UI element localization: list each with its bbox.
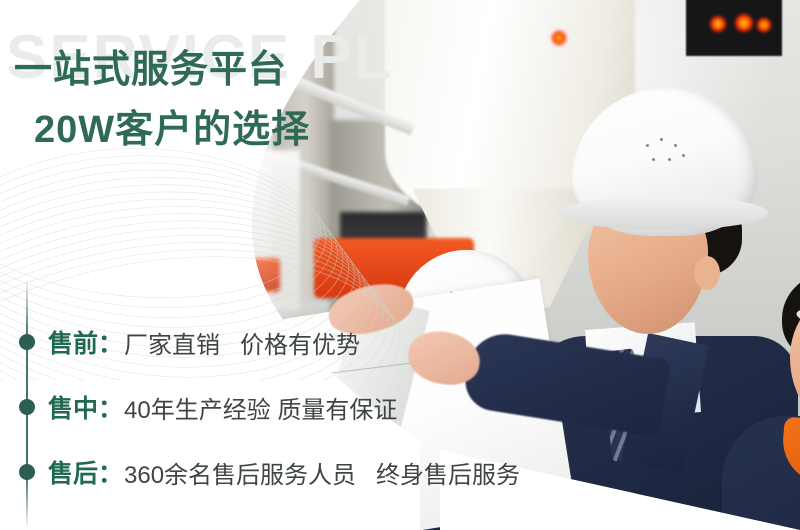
bullet-dot-icon — [19, 464, 35, 480]
list-item-label: 售中： — [48, 389, 123, 425]
headline-line-2: 20W客户的选择 — [34, 98, 310, 153]
list-item: 售前： 厂家直销 价格有优势 — [0, 318, 760, 383]
list-item-label: 售前： — [48, 324, 123, 360]
headline-line-1: 一站式服务平台 — [14, 38, 287, 93]
banner-content: SERVICE PL 一站式服务平台 20W客户的选择 售前： 厂家直销 价格有… — [0, 0, 800, 530]
promo-banner: 人们 很美 — [0, 0, 800, 530]
bullet-dot-icon — [19, 399, 35, 415]
list-item-text: 360余名售后服务人员 终身售后服务 — [124, 455, 520, 490]
list-item-text: 40年生产经验 质量有保证 — [124, 390, 397, 425]
feature-list: 售前： 厂家直销 价格有优势 售中： 40年生产经验 质量有保证 售后： 360… — [0, 318, 760, 513]
bullet-dot-icon — [19, 334, 35, 350]
list-item-text: 厂家直销 价格有优势 — [124, 325, 360, 360]
list-item: 售后： 360余名售后服务人员 终身售后服务 — [0, 448, 760, 513]
list-item-label: 售后： — [48, 454, 123, 490]
list-item: 售中： 40年生产经验 质量有保证 — [0, 383, 760, 448]
